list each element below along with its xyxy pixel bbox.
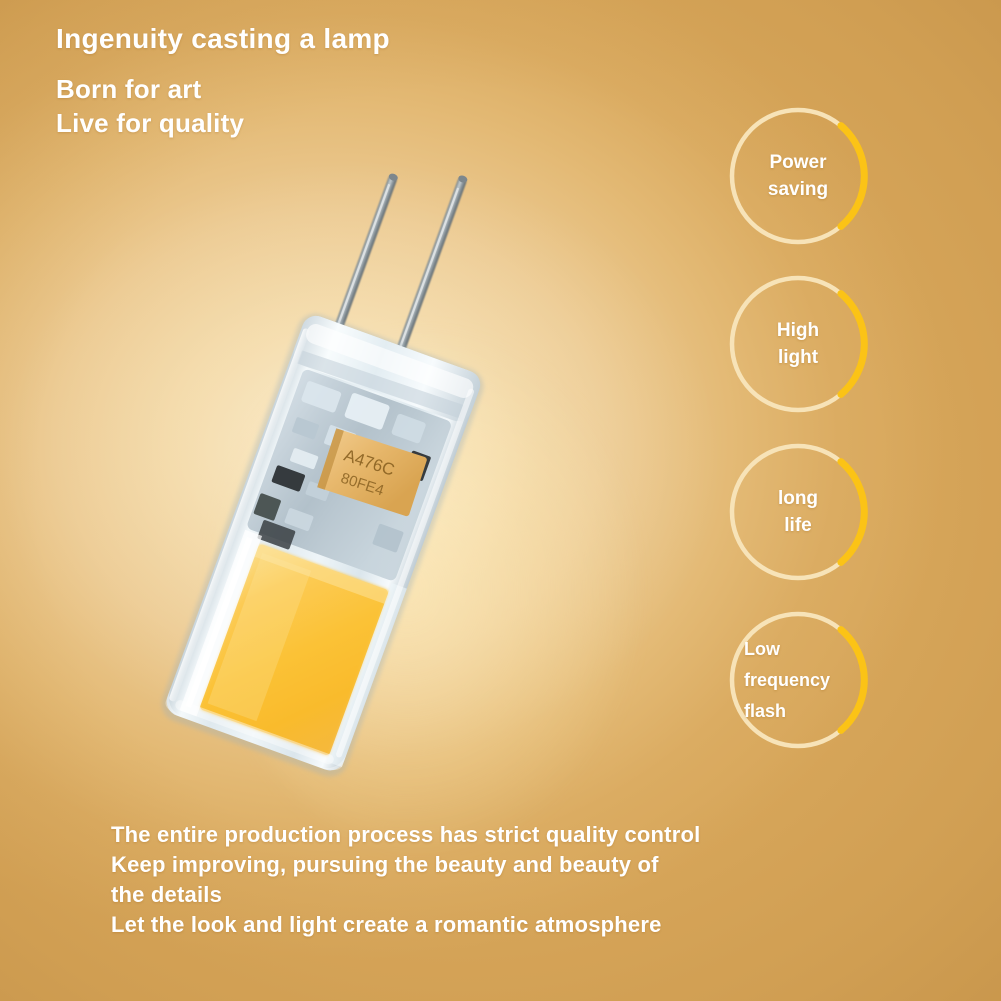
led-bulb-illustration: A476C 80FE4 (128, 150, 648, 830)
badge-text-line: Low (744, 634, 780, 665)
badge-text-line: High (777, 317, 819, 344)
headline-block: Ingenuity casting a lamp Born for art Li… (56, 20, 390, 140)
footer-line-4: Let the look and light create a romantic… (111, 910, 700, 940)
headline-main: Ingenuity casting a lamp (56, 20, 390, 58)
feature-badge-low-frequency-flash[interactable]: Low frequency flash (722, 604, 874, 756)
badge-text-line: frequency (744, 665, 830, 696)
footer-line-3: the details (111, 880, 700, 910)
feature-badge-label: High light (722, 268, 874, 420)
badge-text-line: life (784, 512, 811, 539)
feature-badge-power-saving[interactable]: Power saving (722, 100, 874, 252)
feature-badge-high-light[interactable]: High light (722, 268, 874, 420)
bulb-body: A476C 80FE4 (157, 309, 489, 782)
badge-text-line: long (778, 485, 818, 512)
badge-text-line: saving (768, 176, 828, 203)
product-banner: Ingenuity casting a lamp Born for art Li… (0, 0, 1001, 1001)
feature-badge-list: Power saving High light long life (722, 100, 922, 772)
product-image: A476C 80FE4 (128, 150, 648, 830)
feature-badge-long-life[interactable]: long life (722, 436, 874, 588)
badge-text-line: Power (769, 149, 826, 176)
feature-badge-label: Low frequency flash (722, 604, 874, 756)
headline-sub-line-1: Born for art (56, 72, 390, 106)
badge-text-line: light (778, 344, 818, 371)
footer-line-2: Keep improving, pursuing the beauty and … (111, 850, 700, 880)
headline-sub-line-2: Live for quality (56, 106, 390, 140)
feature-badge-label: long life (722, 436, 874, 588)
badge-text-line: flash (744, 696, 786, 727)
feature-badge-label: Power saving (722, 100, 874, 252)
footer-line-1: The entire production process has strict… (111, 820, 700, 850)
headline-sub: Born for art Live for quality (56, 72, 390, 140)
footer-paragraph: The entire production process has strict… (111, 820, 700, 940)
